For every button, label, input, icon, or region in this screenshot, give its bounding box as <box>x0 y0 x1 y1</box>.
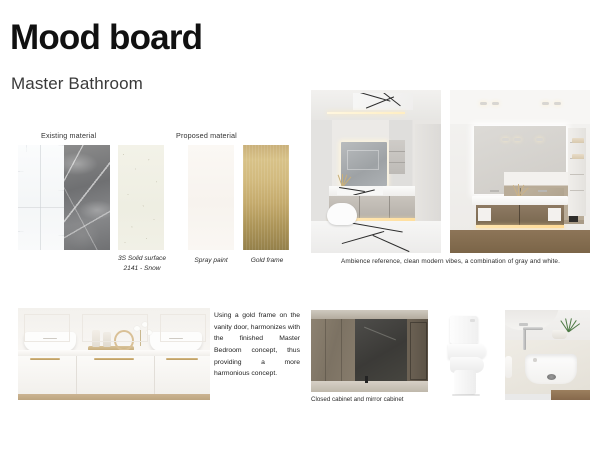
concept-note: Using a gold frame on the vanity door, h… <box>214 310 300 380</box>
downlight-icon <box>492 102 499 105</box>
towel-niche-left <box>478 208 491 221</box>
white-vanity-gold-handles-photo <box>18 308 210 400</box>
downlight-icon <box>502 138 509 141</box>
countertop-marble <box>337 186 383 195</box>
product-shadow <box>452 394 480 396</box>
double-vanity-countertop <box>472 196 568 205</box>
towel-niche-right <box>548 208 561 221</box>
page-title: Mood board <box>10 20 202 57</box>
wood-cabinet-edge <box>551 390 590 400</box>
swatch-solid-surface-snow <box>118 145 164 250</box>
render-door <box>415 124 441 222</box>
folded-towel <box>572 138 584 143</box>
upper-band <box>311 310 428 319</box>
overflow-hole <box>533 358 537 362</box>
downlight-icon <box>554 102 561 105</box>
swatch-spray-paint <box>188 145 234 250</box>
caption-solid-surface: 3S Solid surface 2141 - Snow <box>112 254 172 274</box>
bathroom-render-toilet-vanity <box>311 90 441 253</box>
drain-icon <box>547 374 556 380</box>
existing-material-heading: Existing material <box>41 131 96 140</box>
toilet-pedestal <box>454 370 476 395</box>
swatch-white-marble <box>18 145 64 250</box>
cove-light <box>327 112 405 114</box>
faucet-right <box>538 190 547 192</box>
dark-stone-panel <box>355 319 407 381</box>
downlight-icon <box>480 102 487 105</box>
cabinet-panel <box>24 314 70 342</box>
cabinet-panel <box>82 314 148 342</box>
plant-pot <box>552 330 567 339</box>
downlight-icon <box>536 138 543 141</box>
mood-board-page: Mood board Master Bathroom Existing mate… <box>0 0 600 450</box>
downlight-icon <box>542 102 549 105</box>
wood-floor <box>450 230 590 253</box>
cabinet-panel <box>160 314 206 342</box>
faucet-lever <box>519 323 528 326</box>
white-toilet-product-photo <box>436 310 498 400</box>
mirror-cabinet-door <box>407 319 428 381</box>
under-cabinet-light <box>476 225 564 228</box>
faucet-body <box>523 328 526 350</box>
proposed-material-heading: Proposed material <box>176 131 237 140</box>
faucet-spout <box>523 327 543 330</box>
swatch-gray-marble <box>64 145 110 250</box>
flush-button <box>470 319 475 322</box>
undermount-sink-faucet-photo <box>505 310 590 400</box>
caption-spray-paint: Spray paint <box>181 256 241 266</box>
ceiling-marble-panel <box>353 93 413 110</box>
wall-niche-shelves <box>389 140 405 174</box>
swatch-gold-frame <box>243 145 289 250</box>
vanity-cabinet-body <box>18 356 210 394</box>
downlight-icon <box>514 138 521 141</box>
decor-plant <box>337 172 349 187</box>
caption-ambience-reference: Ambience reference, clean modern vibes, … <box>311 258 590 265</box>
page-subtitle: Master Bathroom <box>11 74 143 94</box>
bathroom-render-double-vanity-mirror <box>450 90 590 253</box>
counter-object <box>505 356 512 378</box>
wall-hung-toilet <box>327 203 357 225</box>
faucet-left <box>490 190 499 192</box>
closed-cabinet-mirror-cabinet-render <box>311 310 428 392</box>
wood-cabinet-panel <box>311 319 355 381</box>
caption-gold-frame: Gold frame <box>237 256 297 266</box>
folded-towel <box>572 154 584 159</box>
cabinet-knob <box>365 376 368 383</box>
wood-floor <box>18 394 210 400</box>
marble-floor <box>311 221 441 253</box>
caption-closed-cabinet: Closed cabinet and mirror cabinet <box>311 396 428 403</box>
lower-band <box>311 381 428 392</box>
render-ceiling <box>450 90 590 124</box>
